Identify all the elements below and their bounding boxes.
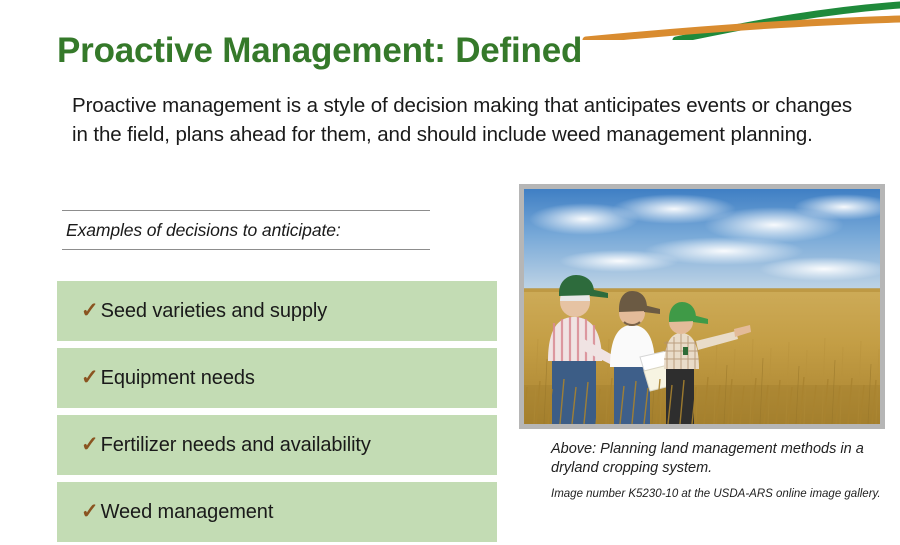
divider-bottom (62, 249, 430, 250)
list-item-label: Weed management (101, 501, 274, 524)
list-item[interactable]: ✓ Seed varieties and supply (57, 281, 497, 341)
list-item[interactable]: ✓ Fertilizer needs and availability (57, 415, 497, 475)
list-item-label: Equipment needs (101, 367, 255, 390)
checklist: ✓ Seed varieties and supply ✓ Equipment … (57, 281, 497, 545)
examples-block: Examples of decisions to anticipate: (62, 210, 430, 250)
list-item[interactable]: ✓ Equipment needs (57, 348, 497, 408)
list-item-label: Fertilizer needs and availability (101, 434, 371, 457)
photo-frame (519, 184, 885, 429)
list-item[interactable]: ✓ Weed management (57, 482, 497, 542)
check-icon: ✓ (81, 367, 99, 388)
slide-root: { "slide": { "title": "Proactive Managem… (0, 0, 900, 545)
check-icon: ✓ (81, 300, 99, 321)
examples-label: Examples of decisions to anticipate: (62, 211, 430, 249)
page-title: Proactive Management: Defined (57, 31, 817, 70)
list-item-label: Seed varieties and supply (101, 300, 328, 323)
photo-credit: Image number K5230-10 at the USDA-ARS on… (551, 487, 881, 502)
field-photo (524, 189, 880, 424)
body-paragraph: Proactive management is a style of decis… (72, 91, 862, 149)
check-icon: ✓ (81, 434, 99, 455)
photo-caption: Above: Planning land management methods … (551, 440, 881, 479)
check-icon: ✓ (81, 501, 99, 522)
